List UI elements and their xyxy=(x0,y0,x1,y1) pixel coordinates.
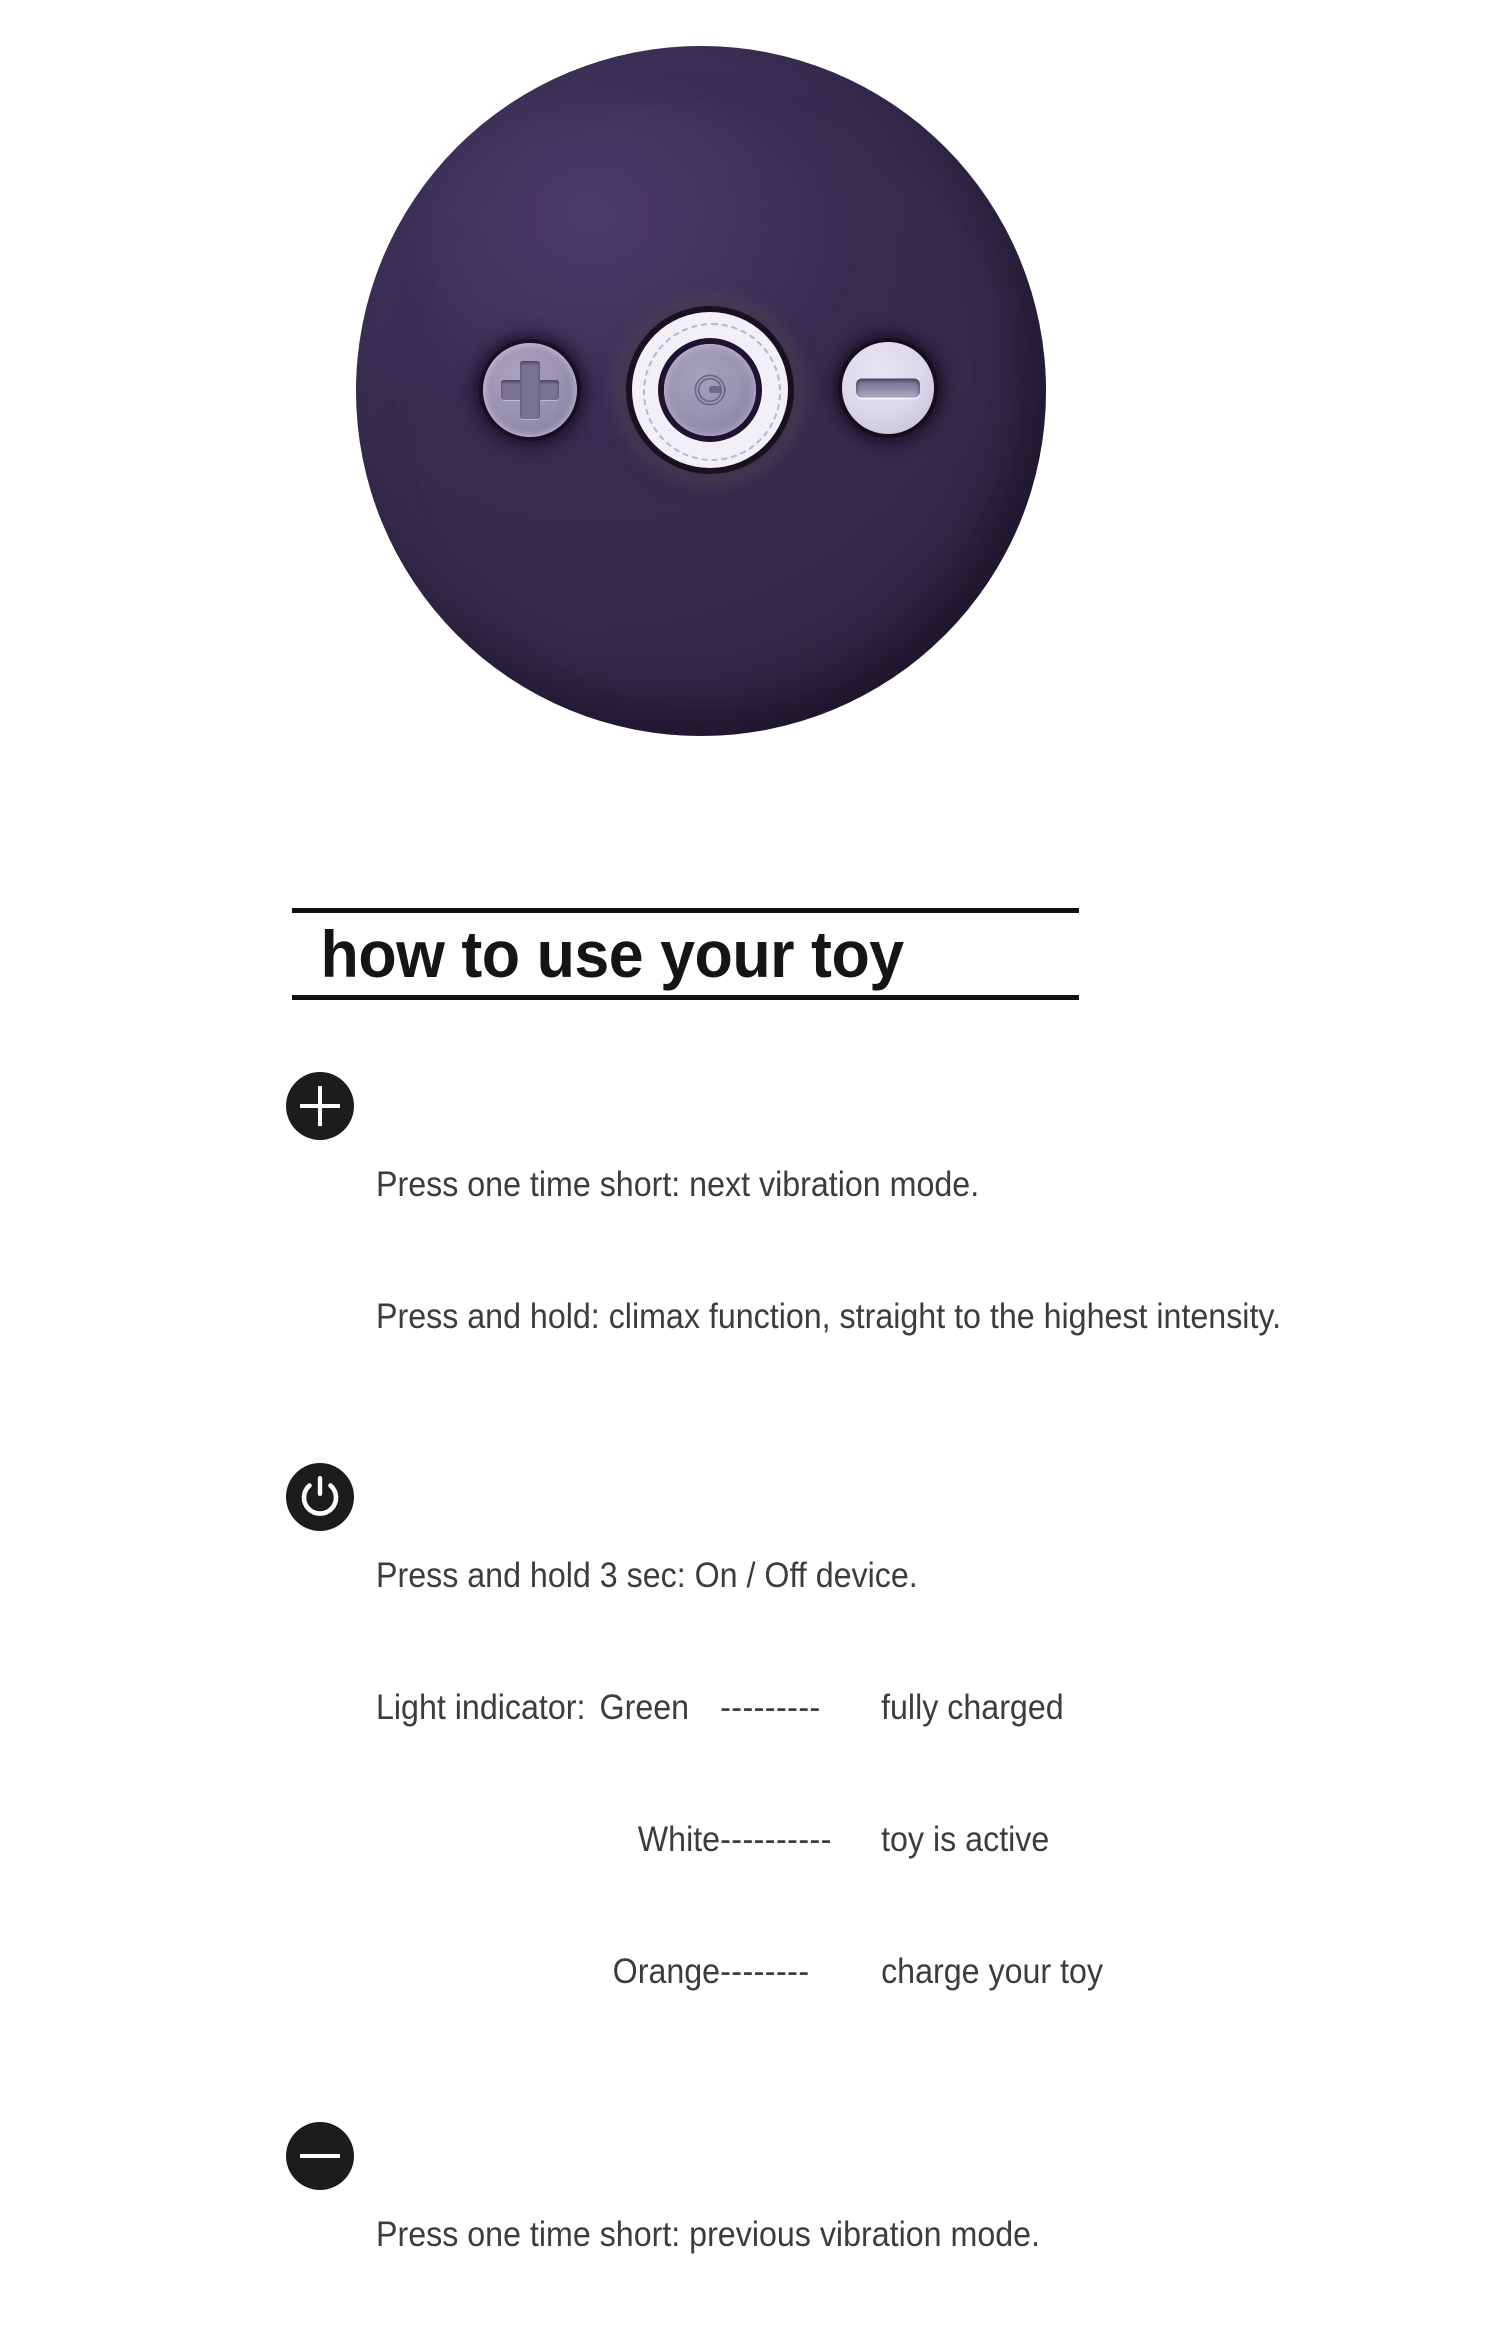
instruction-item-minus: Press one time short: previous vibration… xyxy=(286,2122,1466,2345)
indicator-dashes: -------- xyxy=(720,1950,881,1994)
indicator-spacer xyxy=(376,1818,600,1862)
minus-icon xyxy=(286,2122,354,2190)
device-plus-button[interactable] xyxy=(483,343,577,437)
title-rule-bottom xyxy=(292,995,1079,1000)
device-power-button[interactable] xyxy=(632,312,788,468)
minus-icon xyxy=(856,379,920,398)
power-icon xyxy=(688,368,732,412)
indicator-color-name: Green xyxy=(600,1686,721,1730)
instruction-text-plus: Press one time short: next vibration mod… xyxy=(376,1072,1281,1427)
title-block: how to use your toy xyxy=(292,908,1079,1000)
instruction-line: Press one time short: next vibration mod… xyxy=(376,1163,1281,1207)
indicator-meaning: charge your toy xyxy=(881,1950,1103,1994)
indicator-dashes: --------- xyxy=(720,1686,881,1730)
indicator-color-name: White xyxy=(600,1818,721,1862)
instruction-item-power: Press and hold 3 sec: On / Off device. L… xyxy=(286,1463,1466,2082)
power-button-inner xyxy=(664,344,756,436)
product-photo xyxy=(0,0,1500,860)
instruction-line: Press one time short: previous vibration… xyxy=(376,2213,1040,2257)
indicator-spacer xyxy=(376,1950,600,1994)
instruction-text-power: Press and hold 3 sec: On / Off device. L… xyxy=(376,1463,1103,2082)
plus-icon xyxy=(501,361,559,419)
indicator-row: Light indicator: Green --------- fully c… xyxy=(376,1686,1103,1730)
instruction-line: Press and hold 3 sec: On / Off device. xyxy=(376,1554,1103,1598)
instruction-line: Press and hold: climax function, straigh… xyxy=(376,1295,1281,1339)
indicator-row: White ---------- toy is active xyxy=(376,1818,1103,1862)
instruction-list: Press one time short: next vibration mod… xyxy=(286,1062,1466,2345)
plus-icon xyxy=(286,1072,354,1140)
indicator-row: Orange -------- charge your toy xyxy=(376,1950,1103,1994)
page-title: how to use your toy xyxy=(292,913,1040,995)
light-indicator-label: Light indicator: xyxy=(376,1686,600,1730)
indicator-dashes: ---------- xyxy=(720,1818,881,1862)
indicator-meaning: toy is active xyxy=(881,1818,1049,1862)
instruction-item-plus: Press one time short: next vibration mod… xyxy=(286,1072,1466,1427)
indicator-meaning: fully charged xyxy=(881,1686,1064,1730)
indicator-color-name: Orange xyxy=(600,1950,721,1994)
device-minus-button[interactable] xyxy=(842,342,934,434)
power-icon xyxy=(286,1463,354,1531)
instruction-text-minus: Press one time short: previous vibration… xyxy=(376,2122,1040,2345)
